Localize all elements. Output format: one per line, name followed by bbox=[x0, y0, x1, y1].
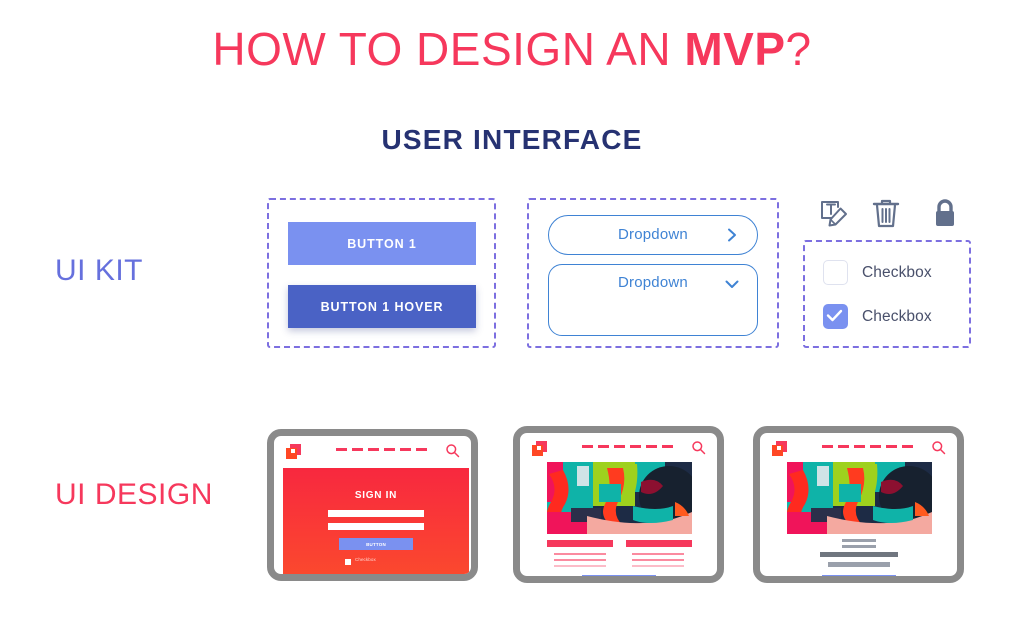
search-icon[interactable] bbox=[445, 443, 460, 458]
row-label-ui-design: UI DESIGN bbox=[55, 478, 213, 512]
trash-icon[interactable] bbox=[871, 197, 901, 230]
row-label-ui-kit: UI KIT bbox=[55, 254, 143, 288]
abstract-art-image bbox=[547, 462, 692, 534]
checkbox-row-checked[interactable]: Checkbox bbox=[823, 304, 932, 329]
mockup-2-topbar bbox=[520, 433, 717, 461]
search-icon[interactable] bbox=[931, 440, 946, 455]
col-2-line-2 bbox=[632, 559, 684, 561]
chevron-down-icon bbox=[724, 276, 740, 292]
sign-in-field-2[interactable] bbox=[328, 523, 424, 530]
text-edit-icon[interactable] bbox=[818, 198, 851, 231]
checkbox-label-1: Checkbox bbox=[862, 264, 932, 282]
mockup-two-column[interactable]: BUTTON bbox=[513, 426, 724, 583]
sign-in-checkbox[interactable] bbox=[345, 559, 351, 565]
center-line-1 bbox=[842, 539, 876, 542]
mockup-3-topbar bbox=[760, 433, 957, 461]
sign-in-field-1[interactable] bbox=[328, 510, 424, 517]
section-subtitle: USER INTERFACE bbox=[0, 124, 1024, 156]
button-1-hover[interactable]: BUTTON 1 HOVER bbox=[288, 285, 476, 328]
mockup-1-topbar bbox=[274, 436, 471, 464]
sign-in-panel: SIGN IN BUTTON Checkbox bbox=[283, 468, 469, 580]
sign-in-button[interactable]: BUTTON bbox=[339, 538, 413, 550]
lock-icon[interactable] bbox=[931, 198, 959, 231]
logo-icon bbox=[286, 444, 302, 460]
checkbox-label-2: Checkbox bbox=[862, 308, 932, 326]
logo-icon bbox=[532, 441, 548, 457]
mockup-centered[interactable]: BUTTON bbox=[753, 426, 964, 583]
hero-image bbox=[787, 462, 932, 534]
sign-in-heading: SIGN IN bbox=[283, 490, 469, 501]
page-title: HOW TO DESIGN AN MVP? bbox=[0, 22, 1024, 76]
col-2-heading-bar bbox=[626, 540, 692, 547]
checkbox-unchecked[interactable] bbox=[823, 260, 848, 285]
slide-canvas: HOW TO DESIGN AN MVP? USER INTERFACE UI … bbox=[0, 0, 1024, 630]
mockup-sign-in[interactable]: SIGN IN BUTTON Checkbox bbox=[267, 429, 478, 581]
col-1-line-1 bbox=[554, 553, 606, 555]
col-2-line-1 bbox=[632, 553, 684, 555]
dropdown-expanded[interactable]: Dropdown bbox=[548, 264, 758, 336]
center-line-4 bbox=[828, 562, 890, 567]
page-title-suffix: ? bbox=[786, 23, 812, 75]
col-1-heading-bar bbox=[547, 540, 613, 547]
button-1[interactable]: BUTTON 1 bbox=[288, 222, 476, 265]
col-1-line-2 bbox=[554, 559, 606, 561]
abstract-art-image bbox=[787, 462, 932, 534]
center-line-3 bbox=[820, 552, 898, 557]
checkboxes-group-box bbox=[803, 240, 971, 348]
mockup-3-button[interactable]: BUTTON bbox=[822, 575, 896, 583]
hero-image bbox=[547, 462, 692, 534]
col-2-line-3 bbox=[632, 565, 684, 567]
mockup-2-nav-dashes[interactable] bbox=[582, 445, 673, 448]
mockup-1-nav-dashes[interactable] bbox=[336, 448, 427, 451]
sign-in-checkbox-label: Checkbox bbox=[355, 557, 376, 562]
col-1-line-3 bbox=[554, 565, 606, 567]
chevron-right-icon bbox=[724, 227, 740, 243]
mockup-2-button[interactable]: BUTTON bbox=[582, 575, 656, 583]
mockup-3-nav-dashes[interactable] bbox=[822, 445, 913, 448]
checkbox-checked[interactable] bbox=[823, 304, 848, 329]
dropdown-collapsed[interactable]: Dropdown bbox=[548, 215, 758, 255]
search-icon[interactable] bbox=[691, 440, 706, 455]
page-title-prefix: HOW TO DESIGN AN bbox=[212, 23, 684, 75]
logo-icon bbox=[772, 441, 788, 457]
check-icon bbox=[822, 303, 847, 328]
page-title-emphasis: MVP bbox=[684, 23, 785, 75]
checkbox-row-unchecked[interactable]: Checkbox bbox=[823, 260, 932, 285]
center-line-2 bbox=[842, 545, 876, 548]
